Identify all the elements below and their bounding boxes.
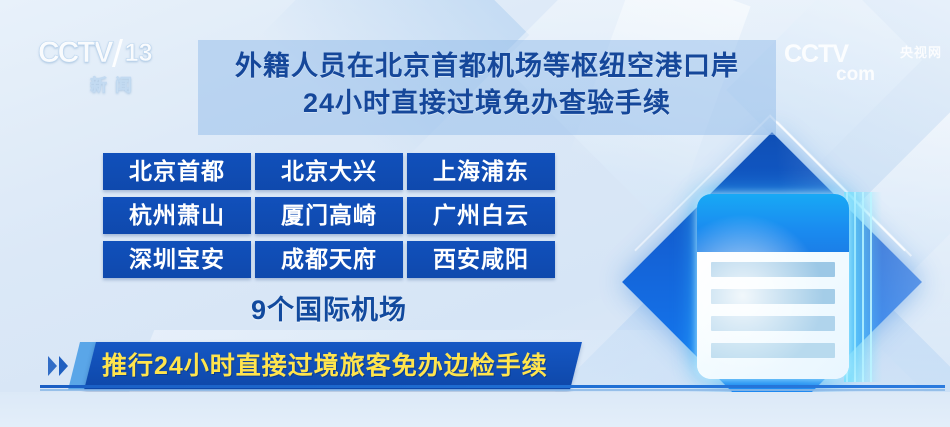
airport-chip[interactable]: 厦门高崎	[255, 197, 403, 234]
bottom-banner: 推行24小时直接过境旅客免办边检手续	[38, 342, 598, 390]
bottom-rule-primary	[40, 385, 945, 388]
document-glow	[697, 194, 849, 379]
airport-chip[interactable]: 西安咸阳	[407, 241, 555, 278]
document-icon	[697, 194, 849, 379]
airport-chip[interactable]: 广州白云	[407, 197, 555, 234]
cctv-logo-text: CCTV	[38, 36, 112, 70]
document-diamond-graphic	[622, 132, 922, 427]
cctv-com-watermark: CCTV com 央视网	[784, 42, 944, 88]
headline-band: 外籍人员在北京首都机场等枢纽空港口岸 24小时直接过境免办查验手续	[198, 40, 776, 135]
cctv-logo-slash	[112, 39, 123, 67]
bottom-rule-secondary	[40, 389, 945, 391]
headline-line-1: 外籍人员在北京首都机场等枢纽空港口岸	[198, 48, 776, 85]
airport-chip[interactable]: 北京首都	[103, 153, 251, 190]
airport-count-label: 9个国际机场	[103, 288, 555, 327]
bottom-background	[0, 392, 950, 427]
airport-chip-grid: 北京首都 北京大兴 上海浦东 杭州萧山 厦门高崎 广州白云 深圳宝安 成都天府 …	[103, 153, 555, 278]
cctv-channel-number: 13	[125, 39, 153, 68]
airport-chip[interactable]: 成都天府	[255, 241, 403, 278]
headline-line-2: 24小时直接过境免办查验手续	[198, 85, 776, 122]
airport-chip[interactable]: 杭州萧山	[103, 197, 251, 234]
banner-text: 推行24小时直接过境旅客免办边检手续	[102, 342, 582, 390]
broadcast-graphic: CCTV 13 新闻 CCTV com 央视网 外籍人员在北京首都机场等枢纽空港…	[0, 0, 950, 427]
cctv-channel-name: 新闻	[38, 71, 178, 96]
airport-chip[interactable]: 北京大兴	[255, 153, 403, 190]
cctv13-logo: CCTV 13 新闻	[38, 36, 178, 92]
airport-chip[interactable]: 上海浦东	[407, 153, 555, 190]
watermark-chinese-text: 央视网	[900, 42, 942, 61]
airport-chip[interactable]: 深圳宝安	[103, 241, 251, 278]
document-side-glow	[844, 192, 882, 382]
